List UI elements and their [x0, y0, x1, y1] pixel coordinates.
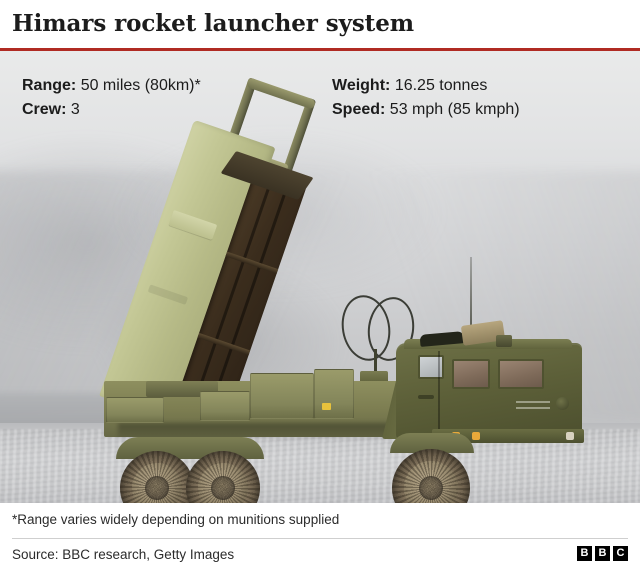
- deck-box: [106, 397, 164, 423]
- whip-antenna-icon: [470, 257, 472, 331]
- bbc-logo: B B C: [577, 546, 628, 561]
- bbc-logo-letter-2: B: [595, 546, 610, 561]
- headlight: [566, 432, 574, 440]
- frame-crossbar: [246, 77, 316, 110]
- cab-stencil-markings: [516, 401, 550, 413]
- cab-window: [498, 359, 544, 389]
- deck-box: [314, 369, 354, 419]
- wheel: [392, 449, 470, 503]
- cab-window: [452, 359, 490, 389]
- footnote: *Range varies widely depending on muniti…: [12, 511, 339, 529]
- infographic-card: Himars rocket launcher system: [0, 0, 640, 570]
- himars-vehicle: [0, 51, 640, 503]
- marker-light: [472, 432, 480, 440]
- source-credit: Source: BBC research, Getty Images: [12, 546, 234, 564]
- bbc-logo-letter-3: C: [613, 546, 628, 561]
- tube-rail: [198, 333, 251, 355]
- bbc-logo-letter-1: B: [577, 546, 592, 561]
- deck-box: [200, 391, 250, 421]
- source-divider: [12, 538, 628, 539]
- cab-side-window: [418, 355, 444, 379]
- cab-door-seam: [438, 351, 440, 435]
- deck-box: [250, 373, 314, 419]
- vehicle-photo: [0, 51, 640, 503]
- page-title: Himars rocket launcher system: [12, 9, 628, 39]
- tube-rail: [226, 252, 279, 274]
- roof-equipment: [496, 335, 512, 347]
- header: Himars rocket launcher system: [0, 0, 640, 50]
- cab-fuel-cap: [556, 397, 569, 410]
- marker-light: [322, 403, 331, 410]
- cab-door-handle: [418, 395, 434, 399]
